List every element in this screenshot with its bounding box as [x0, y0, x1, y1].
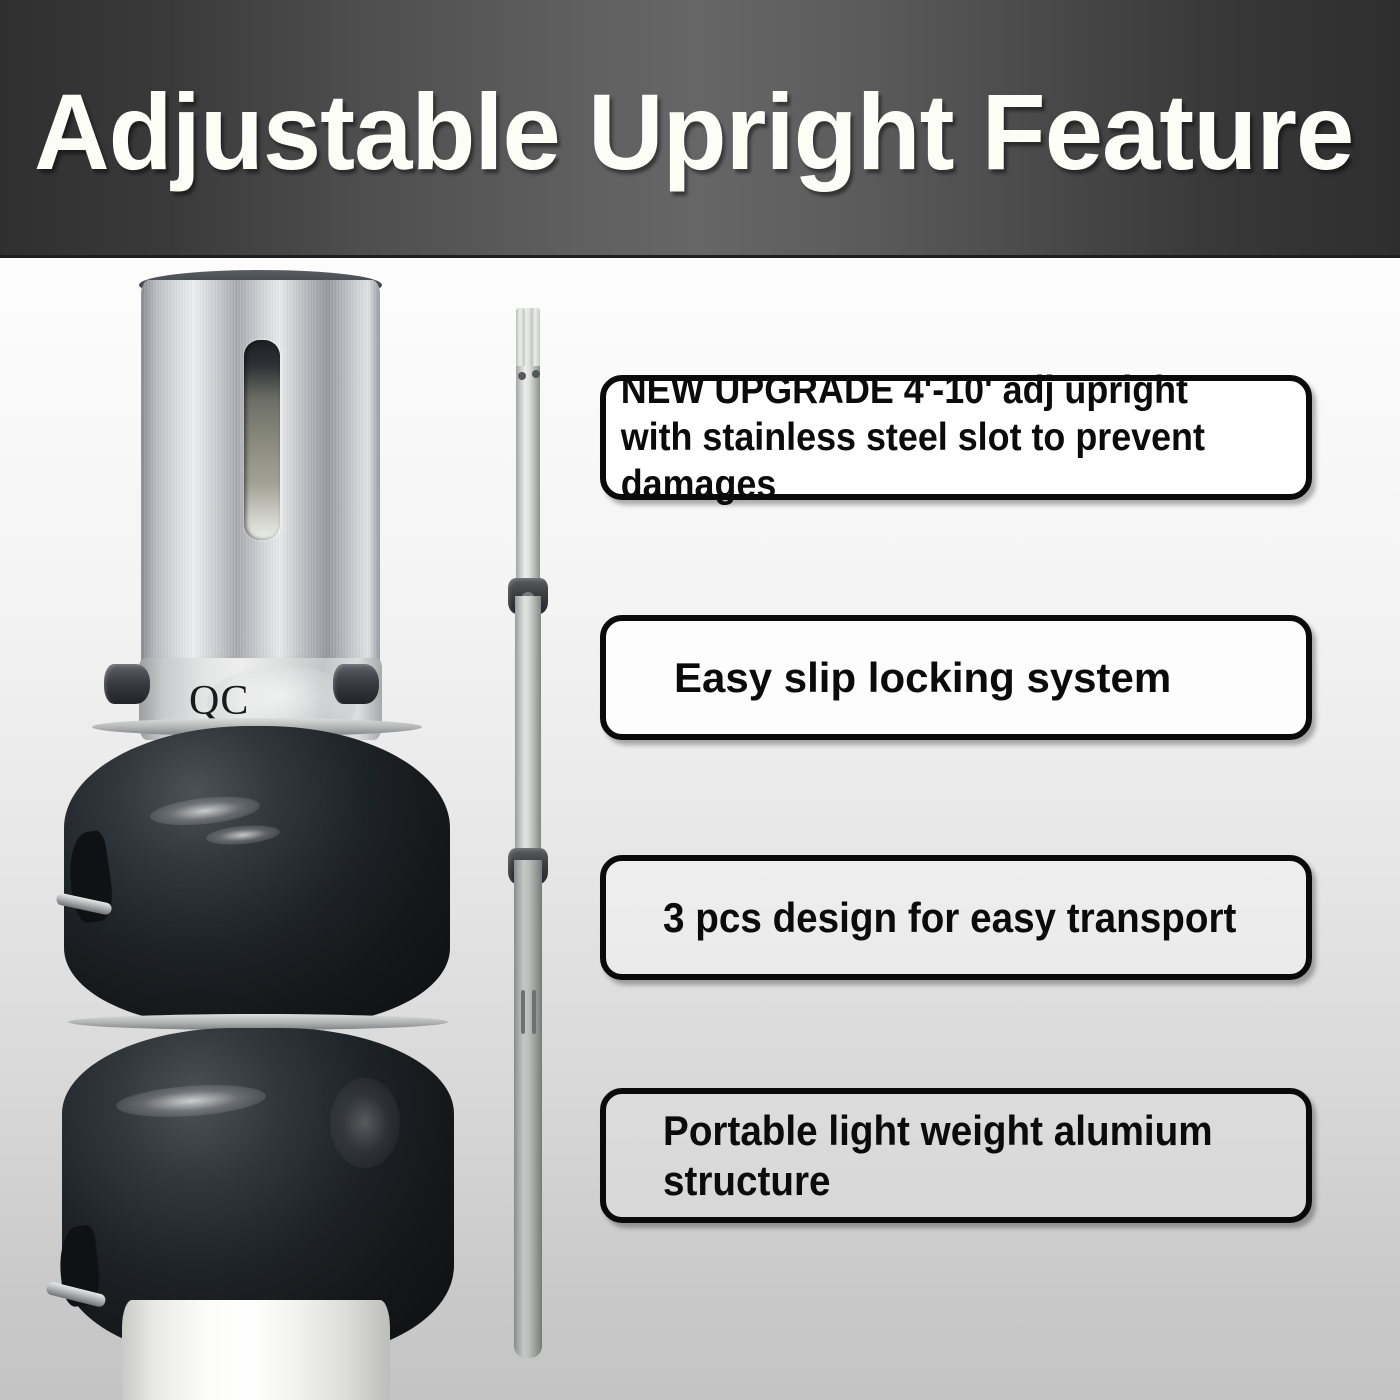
feature-callout-1: NEW UPGRADE 4'-10' adj upright with stai…: [600, 375, 1312, 500]
feature-callout-3: 3 pcs design for easy transport: [600, 855, 1312, 980]
feature-callout-4-label: Portable light weight alumium structure: [606, 1106, 1250, 1206]
pole-segment-middle: [515, 596, 541, 866]
stainless-steel-slot: [244, 340, 280, 540]
pole-adjustment-slot-right: [532, 990, 536, 1034]
product-closeup-photo: QC: [0, 258, 470, 1400]
locking-knob-right: [333, 664, 379, 704]
bottom-white-tube: [122, 1300, 390, 1400]
qc-stamp-label: QC: [189, 680, 339, 722]
black-base-upper: [64, 726, 450, 1026]
pole-pinhole-right: [532, 370, 540, 378]
pole-segment-bottom: [514, 860, 542, 1358]
feature-callout-4: Portable light weight alumium structure: [600, 1088, 1312, 1223]
feature-callout-2-label: Easy slip locking system: [606, 654, 1306, 702]
feature-callout-2: Easy slip locking system: [600, 615, 1312, 740]
feature-callout-1-label: NEW UPGRADE 4'-10' adj upright with stai…: [606, 367, 1250, 508]
infographic-page: Adjustable Upright Feature QC: [0, 0, 1400, 1400]
pole-adjustment-slot-left: [521, 990, 525, 1034]
header-banner: Adjustable Upright Feature: [0, 0, 1400, 258]
page-title: Adjustable Upright Feature: [34, 78, 1334, 186]
feature-callout-3-label: 3 pcs design for easy transport: [606, 894, 1250, 942]
full-pole-photo: [498, 300, 558, 1360]
pole-prong-left: [516, 308, 525, 366]
pole-prong-right: [531, 308, 540, 366]
locking-knob-left: [104, 664, 150, 704]
pole-pinhole-left: [518, 372, 526, 380]
